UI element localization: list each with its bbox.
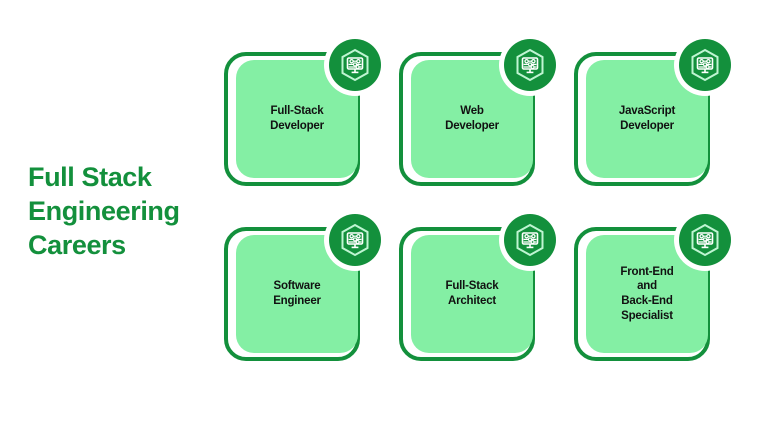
card-badge xyxy=(674,34,736,96)
card-label: Full-Stack Architect xyxy=(446,279,499,308)
server-monitor-hexagon-icon xyxy=(679,214,731,266)
title-block: Full Stack Engineering Careers xyxy=(28,160,218,262)
infographic-canvas: Full Stack Engineering Careers Full-Stac… xyxy=(0,0,768,427)
server-monitor-hexagon-icon xyxy=(504,39,556,91)
career-card-software-engineer[interactable]: Software Engineer xyxy=(222,219,372,367)
card-badge xyxy=(674,209,736,271)
career-card-full-stack-developer[interactable]: Full-Stack Developer xyxy=(222,44,372,192)
card-badge xyxy=(499,209,561,271)
card-badge xyxy=(499,34,561,96)
server-monitor-hexagon-icon xyxy=(679,39,731,91)
card-label: Software Engineer xyxy=(273,279,321,308)
career-card-full-stack-architect[interactable]: Full-Stack Architect xyxy=(397,219,547,367)
card-label: Front-End and Back-End Specialist xyxy=(620,265,673,324)
card-badge xyxy=(324,34,386,96)
card-label: Full-Stack Developer xyxy=(270,104,324,133)
career-card-front-end-and-back-end-specialist[interactable]: Front-End and Back-End Specialist xyxy=(572,219,722,367)
page-title: Full Stack Engineering Careers xyxy=(28,160,218,262)
server-monitor-hexagon-icon xyxy=(504,214,556,266)
career-card-grid: Full-Stack Developer xyxy=(222,44,748,384)
card-label: JavaScript Developer xyxy=(619,104,675,133)
server-monitor-hexagon-icon xyxy=(329,39,381,91)
career-card-web-developer[interactable]: Web Developer xyxy=(397,44,547,192)
career-card-javascript-developer[interactable]: JavaScript Developer xyxy=(572,44,722,192)
server-monitor-hexagon-icon xyxy=(329,214,381,266)
card-label: Web Developer xyxy=(445,104,499,133)
card-badge xyxy=(324,209,386,271)
